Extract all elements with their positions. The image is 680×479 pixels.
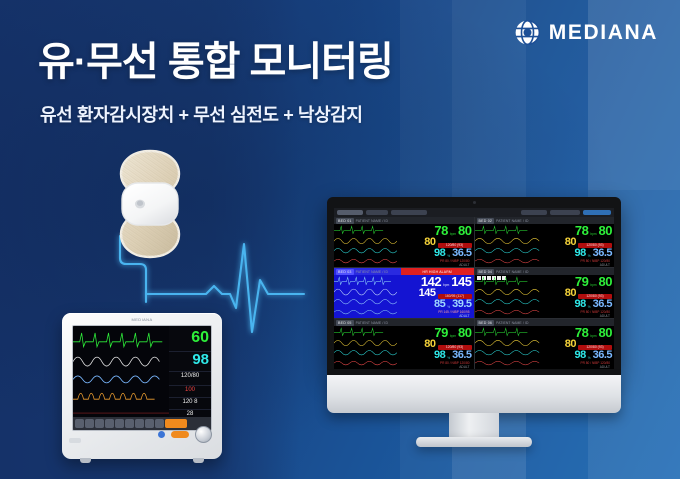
cms-bed-panel-4[interactable]: BED 04 PATIENT NAME / ID: [475, 268, 615, 318]
monitor-stand-base: [416, 437, 532, 447]
cms-system-label: [337, 210, 363, 215]
bed-header-3: BED 03 PATIENT NAME / ID HR HIGH ALARM: [334, 268, 474, 275]
page-subtitle: 유선 환자감시장치 + 무선 심전도 + 낙상감지: [40, 101, 363, 127]
cms-bed-panel-1[interactable]: BED 01 PATIENT NAME / ID: [334, 217, 474, 267]
bedside-vitals-column: 60 98 120/80 100 120 8 28 15: [169, 326, 211, 417]
bed-waveforms-3: [334, 275, 400, 318]
cms-status-pill-1[interactable]: [366, 210, 388, 215]
bed-number-3: BED 03: [336, 269, 354, 275]
rotary-knob[interactable]: [195, 426, 212, 443]
bed4-hr: 79: [575, 275, 588, 288]
central-monitoring-station[interactable]: BED 01 PATIENT NAME / ID: [327, 197, 621, 447]
bed3-rr: 145: [419, 288, 436, 299]
alarm-button[interactable]: [171, 431, 189, 438]
bed1-temp: 36.5: [452, 248, 471, 259]
bed6-hr: 78: [575, 326, 588, 339]
bed-patient-1: PATIENT NAME / ID: [356, 219, 388, 223]
bedside-nibp-value: 120/80: [171, 372, 209, 380]
bed-waveforms-4: [475, 275, 541, 318]
bedside-nibp-map: 100: [171, 386, 209, 394]
bed-patient-4: PATIENT NAME / ID: [496, 270, 528, 274]
bed6-hr-unit: bpm: [590, 335, 596, 339]
bed-patient-5: PATIENT NAME / ID: [356, 321, 388, 325]
bed-header-5: BED 05 PATIENT NAME / ID: [334, 319, 474, 326]
bed4-spo2-unit: %: [588, 306, 591, 310]
bedside-waveform-area: [73, 326, 169, 417]
bed5-spo2-unit: %: [447, 357, 450, 361]
bed1-spo2: 98: [434, 248, 445, 259]
monitor-bezel: BED 01 PATIENT NAME / ID: [327, 197, 621, 375]
bed-header-6: BED 06 PATIENT NAME / ID: [475, 319, 615, 326]
bed-header-4: BED 04 PATIENT NAME / ID: [475, 268, 615, 275]
cms-bed-panel-2[interactable]: BED 02 PATIENT NAME / ID: [475, 217, 615, 267]
bedside-nibp-alt: 120 8: [171, 398, 209, 406]
bedside-foot-right: [193, 458, 204, 463]
bed-number-5: BED 05: [336, 320, 354, 326]
bed4-spo2: 98: [574, 299, 585, 310]
bed5-spo2: 98: [434, 350, 445, 361]
bed2-hr-unit: bpm: [590, 233, 596, 237]
bed1-hr: 78: [434, 224, 447, 237]
bed5-temp: 36.5: [452, 350, 471, 361]
status-badge-alarm[interactable]: HR HIGH ALARM: [401, 268, 474, 275]
bed1-foot2: ADULT: [400, 263, 472, 267]
bed2-spo2: 98: [574, 248, 585, 259]
bed-waveforms-1: [334, 224, 400, 267]
bed1-hr-unit: bpm: [450, 233, 456, 237]
bed2-spo2-unit: %: [588, 255, 591, 259]
cms-bed-panel-5[interactable]: BED 05 PATIENT NAME / ID: [334, 319, 474, 369]
brand-name: MEDIANA: [549, 22, 658, 43]
bed-waveforms-2: [475, 224, 541, 267]
bed6-nibp: 80: [599, 326, 612, 339]
bed-number-2: BED 02: [477, 218, 495, 224]
bed-number-6: BED 06: [477, 320, 495, 326]
bed4-nibp: 80: [599, 275, 612, 288]
cms-topbar[interactable]: [334, 208, 614, 217]
power-button[interactable]: [158, 431, 165, 438]
cms-status-pill-3[interactable]: [521, 210, 547, 215]
cms-status-pill-2[interactable]: [391, 210, 427, 215]
bed5-nibp: 80: [458, 326, 471, 339]
monitor-chin: [327, 375, 621, 413]
globe-sphere-icon: [515, 20, 540, 45]
cms-screen[interactable]: BED 01 PATIENT NAME / ID: [334, 208, 614, 369]
bed-vitals-5: 79 bpm 80 80 120/80 (93) 98 % 36.5 PR 80…: [400, 326, 474, 369]
monitor-stand-neck: [449, 413, 499, 439]
page-title: 유·무선 통합 모니터링: [38, 40, 393, 84]
bed-header-1: BED 01 PATIENT NAME / ID: [334, 217, 474, 224]
bed-vitals-1: 78 bpm 80 80 120/80 (93) 98 % 36.5 PR 80…: [400, 224, 474, 267]
bed-header-2: BED 02 PATIENT NAME / ID: [475, 217, 615, 224]
bed6-foot2: ADULT: [540, 365, 612, 369]
bed6-spo2: 98: [574, 350, 585, 361]
bed-waveforms-5: [334, 326, 400, 369]
bed1-spo2-unit: %: [447, 255, 450, 259]
bed-waveforms-6: [475, 326, 541, 369]
bed-number-1: BED 01: [336, 218, 354, 224]
bed-patient-2: PATIENT NAME / ID: [496, 219, 528, 223]
bed4-temp: 36.5: [593, 299, 612, 310]
bed-vitals-2: 78 bpm 80 80 120/80 (93) 98 % 36.5 PR 80…: [540, 224, 614, 267]
bed5-hr: 79: [434, 326, 447, 339]
wireless-ecg-patch: [108, 148, 192, 260]
bedside-controls[interactable]: [72, 423, 212, 445]
bed6-temp: 36.5: [593, 350, 612, 361]
bed1-nibp: 80: [458, 224, 471, 237]
brand-logo: MEDIANA: [515, 20, 658, 45]
cms-status-pill-4[interactable]: [550, 210, 580, 215]
bedside-brand-label: MEDIANA: [62, 317, 222, 322]
bed-vitals-3: 142 bpm 145 145 160/95 (117) 85 % 39.5 P…: [400, 275, 474, 318]
bed3-nibp: 145: [451, 275, 471, 288]
bed3-spo2: 85: [434, 299, 445, 310]
bed3-temp: 39.5: [452, 299, 471, 310]
bedside-hr-value: 60: [171, 326, 209, 346]
bed5-foot2: ADULT: [400, 365, 472, 369]
cms-bed-grid: BED 01 PATIENT NAME / ID: [334, 217, 614, 369]
bed2-foot2: ADULT: [540, 263, 612, 267]
bed2-nibp: 80: [599, 224, 612, 237]
bed-patient-6: PATIENT NAME / ID: [496, 321, 528, 325]
bed3-spo2-unit: %: [447, 306, 450, 310]
bed2-temp: 36.5: [593, 248, 612, 259]
patch-device-body: [122, 183, 178, 225]
bed-number-4: BED 04: [477, 269, 495, 275]
bed2-hr: 78: [575, 224, 588, 237]
bedside-screen[interactable]: 60 98 120/80 100 120 8 28 15: [72, 325, 212, 431]
bedside-patient-monitor[interactable]: MEDIANA 60 98: [62, 313, 222, 459]
webcam-icon: [473, 201, 476, 204]
bed4-foot2: ADULT: [540, 314, 612, 318]
bed6-spo2-unit: %: [588, 357, 591, 361]
bed4-hr-unit: bpm: [590, 284, 596, 288]
bed3-hr-unit: bpm: [443, 284, 449, 288]
bed-vitals-4: 79 bpm 80 80 120/80 (93) 98 % 36.5 PR 80…: [540, 275, 614, 318]
promo-banner: MEDIANA 유·무선 통합 모니터링 유선 환자감시장치 + 무선 심전도 …: [0, 0, 680, 479]
bed-patient-3: PATIENT NAME / ID: [356, 270, 388, 274]
cms-bed-panel-6[interactable]: BED 06 PATIENT NAME / ID: [475, 319, 615, 369]
bed5-hr-unit: bpm: [450, 335, 456, 339]
cms-bed-panel-3[interactable]: BED 03 PATIENT NAME / ID HR HIGH ALARM: [334, 268, 474, 318]
bed3-foot2: ADULT: [400, 314, 472, 318]
bed-vitals-6: 78 bpm 80 80 120/80 (93) 98 % 36.5 PR 80…: [540, 326, 614, 369]
cms-status-pill-5[interactable]: [583, 210, 611, 215]
bedside-spo2-value: 98: [171, 352, 209, 367]
bedside-foot-left: [80, 458, 91, 463]
